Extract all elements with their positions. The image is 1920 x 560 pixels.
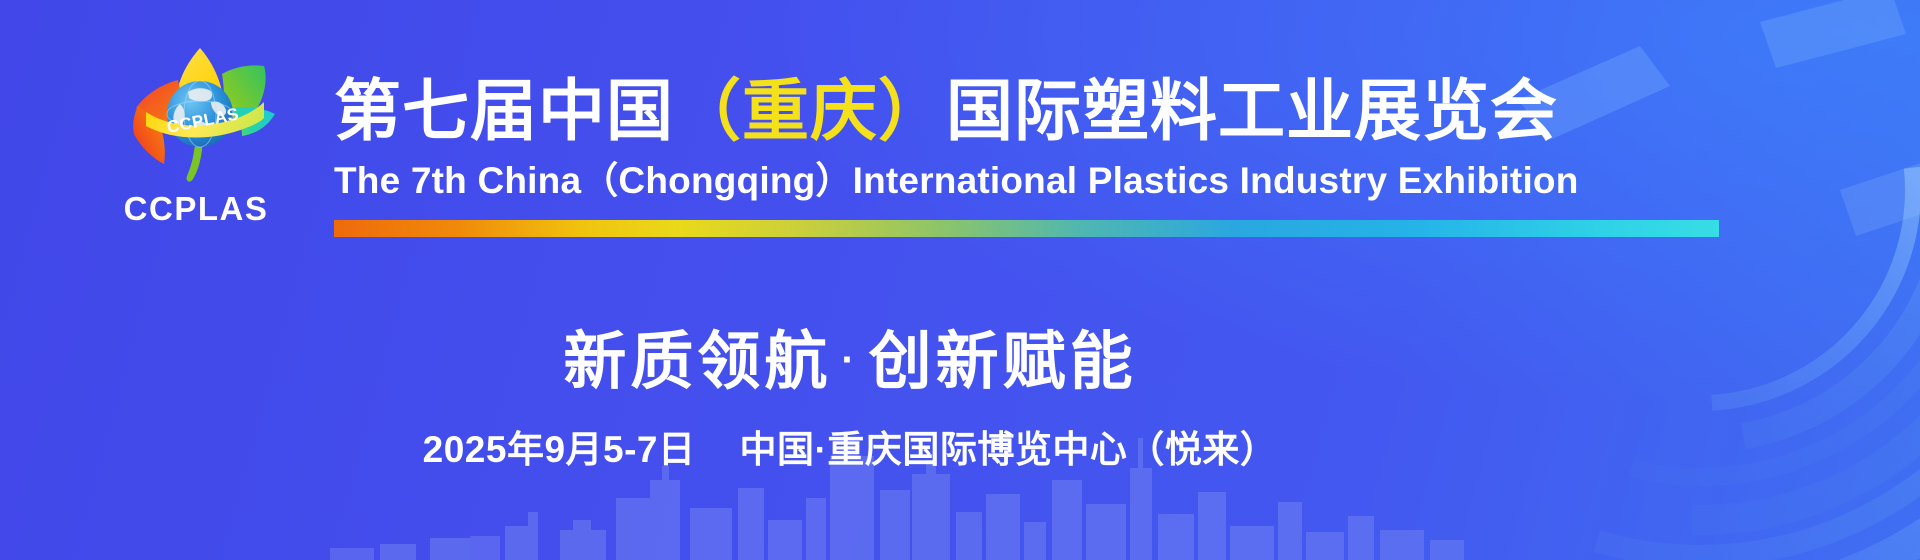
slogan-right: 创新赋能 [869, 327, 1137, 397]
ccplas-logo: CCPLAS CCPLAS [106, 42, 286, 232]
title-bracket-open: （ [674, 74, 742, 149]
title-bracket-close: ） [878, 74, 946, 149]
event-date: 2025年9月5-7日 [423, 429, 696, 470]
title-chinese-part2: 国际塑料工业展览会 [946, 74, 1558, 149]
gradient-rule [334, 220, 1719, 237]
title-chinese: 第七届中国（重庆）国际塑料工业展览会 [334, 72, 1734, 152]
event-meta: 2025年9月5-7日中国·重庆国际博览中心（悦来） [0, 427, 1700, 473]
headline-block: 第七届中国（重庆）国际塑料工业展览会 The 7th China（Chongqi… [334, 72, 1734, 237]
exhibition-banner: CCPLAS CCPLAS 第七届中国（重庆）国际塑料工业展览会 The 7th… [0, 0, 1920, 560]
slogan-left: 新质领航 [563, 327, 831, 397]
event-venue: 中国·重庆国际博览中心（悦来） [740, 429, 1278, 470]
title-chinese-highlight: 重庆 [742, 74, 878, 149]
title-chinese-part1: 第七届中国 [334, 74, 674, 149]
slogan-separator: · [831, 338, 868, 382]
ccplas-wordmark: CCPLAS [106, 190, 286, 228]
ccplas-leaf-globe-icon: CCPLAS [114, 42, 284, 192]
slogan: 新质领航·创新赋能 [0, 322, 1700, 400]
title-english: The 7th China（Chongqing）International Pl… [334, 158, 1734, 204]
